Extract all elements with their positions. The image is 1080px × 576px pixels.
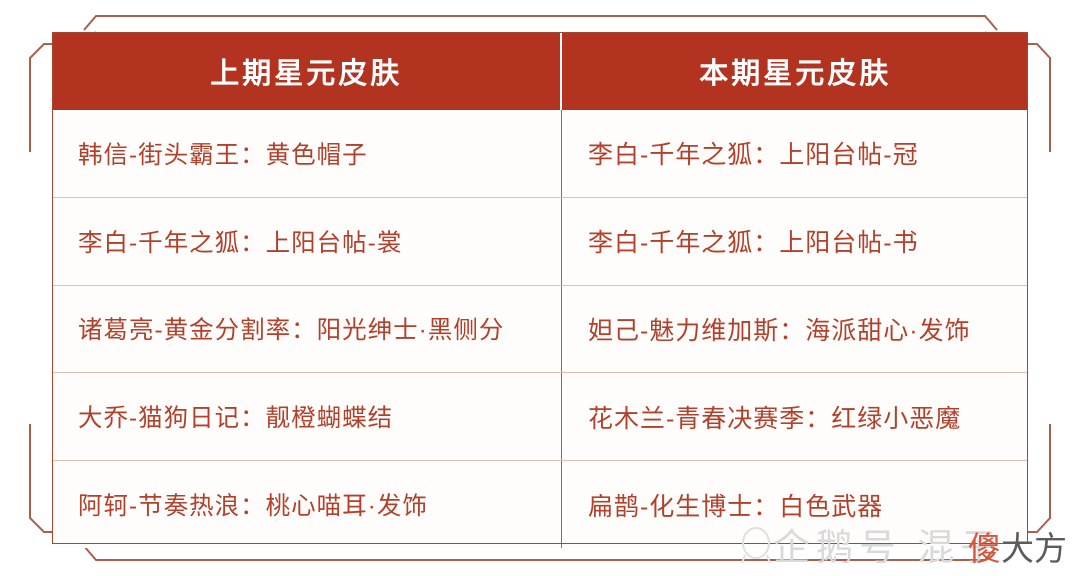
skin-comparison-table-wrapper: 上期星元皮肤 本期星元皮肤 韩信-街头霸王：黄色帽子 李白-千年之狐：上阳台帖-… — [52, 32, 1028, 544]
cell-current-skin: 扁鹊-化生博士：白色武器 — [561, 461, 1028, 548]
cell-previous-skin: 李白-千年之狐：上阳台帖-裳 — [52, 197, 561, 285]
column-header-previous-period: 上期星元皮肤 — [52, 32, 561, 110]
table-body: 韩信-街头霸王：黄色帽子 李白-千年之狐：上阳台帖-冠 李白-千年之狐：上阳台帖… — [52, 110, 1028, 548]
header-row: 上期星元皮肤 本期星元皮肤 — [52, 32, 1028, 110]
cell-current-skin: 李白-千年之狐：上阳台帖-书 — [561, 197, 1028, 285]
cell-current-skin: 李白-千年之狐：上阳台帖-冠 — [561, 110, 1028, 197]
table-header: 上期星元皮肤 本期星元皮肤 — [52, 32, 1028, 110]
table-row: 大乔-猫狗日记：靓橙蝴蝶结 花木兰-青春决赛季：红绿小恶魔 — [52, 373, 1028, 461]
skin-comparison-table: 上期星元皮肤 本期星元皮肤 韩信-街头霸王：黄色帽子 李白-千年之狐：上阳台帖-… — [52, 32, 1028, 548]
cell-previous-skin: 韩信-街头霸王：黄色帽子 — [52, 110, 561, 197]
cell-previous-skin: 诸葛亮-黄金分割率：阳光绅士·黑侧分 — [52, 285, 561, 373]
table-row: 诸葛亮-黄金分割率：阳光绅士·黑侧分 妲己-魅力维加斯：海派甜心·发饰 — [52, 285, 1028, 373]
table-row: 李白-千年之狐：上阳台帖-裳 李白-千年之狐：上阳台帖-书 — [52, 197, 1028, 285]
table-row: 阿轲-节奏热浪：桃心喵耳·发饰 扁鹊-化生博士：白色武器 — [52, 461, 1028, 548]
cell-previous-skin: 阿轲-节奏热浪：桃心喵耳·发饰 — [52, 461, 561, 548]
cell-previous-skin: 大乔-猫狗日记：靓橙蝴蝶结 — [52, 373, 561, 461]
table-row: 韩信-街头霸王：黄色帽子 李白-千年之狐：上阳台帖-冠 — [52, 110, 1028, 197]
column-header-current-period: 本期星元皮肤 — [561, 32, 1028, 110]
cell-current-skin: 妲己-魅力维加斯：海派甜心·发饰 — [561, 285, 1028, 373]
cell-current-skin: 花木兰-青春决赛季：红绿小恶魔 — [561, 373, 1028, 461]
